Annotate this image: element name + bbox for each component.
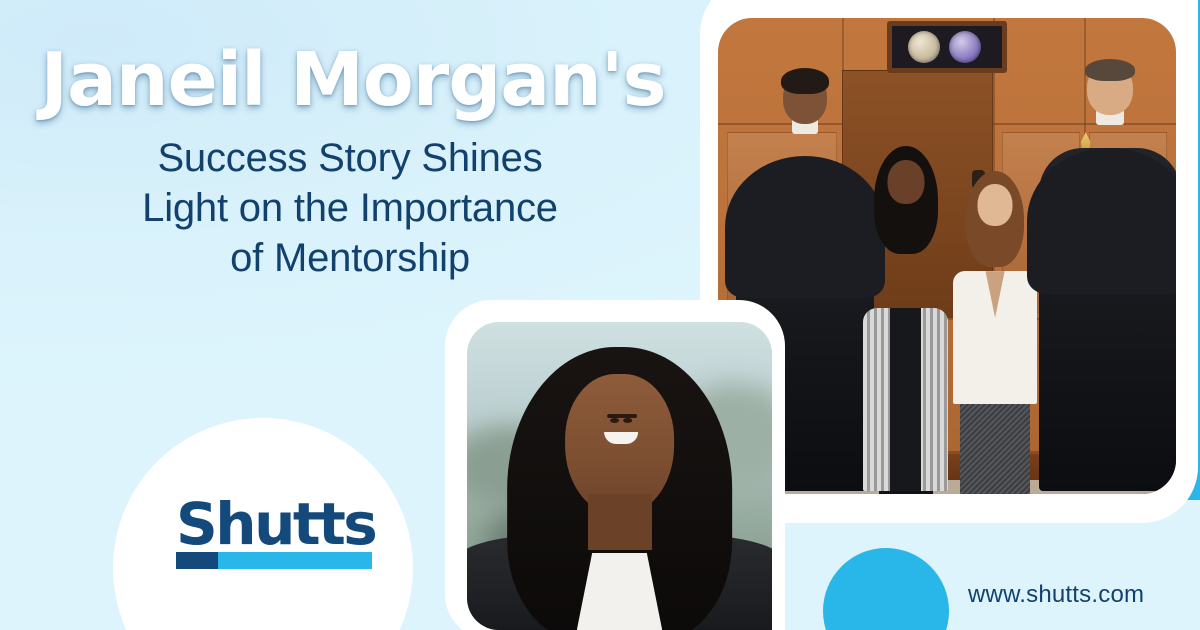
page-subtitle: Success Story Shines Light on the Import… bbox=[0, 133, 700, 284]
logo-underline-bar bbox=[176, 552, 372, 569]
subtitle-line-1: Success Story Shines bbox=[0, 133, 700, 183]
headshot-neck bbox=[587, 494, 651, 549]
cyan-circle-shape bbox=[823, 548, 949, 630]
headshot-photo bbox=[467, 322, 772, 630]
person-woman-plaid-blazer bbox=[858, 139, 954, 491]
headline-block: Janeil Morgan's Success Story Shines Lig… bbox=[0, 44, 700, 284]
shutts-logo[interactable]: Shutts bbox=[176, 500, 375, 569]
website-url[interactable]: www.shutts.com bbox=[968, 581, 1144, 609]
promo-poster: Janeil Morgan's Success Story Shines Lig… bbox=[0, 0, 1200, 630]
logo-bar-dark-segment bbox=[176, 552, 218, 569]
subtitle-line-3: of Mentorship bbox=[0, 233, 700, 283]
seal-icon bbox=[949, 31, 981, 63]
person-judge-right bbox=[1039, 63, 1176, 491]
seal-icon bbox=[908, 31, 940, 63]
logo-bar-light-segment bbox=[218, 552, 372, 569]
page-title: Janeil Morgan's bbox=[0, 44, 700, 117]
logo-wordmark: Shutts bbox=[176, 500, 375, 550]
subtitle-line-2: Light on the Importance bbox=[0, 183, 700, 233]
courtroom-seals-plaque bbox=[887, 21, 1006, 73]
courtroom-photo bbox=[718, 18, 1176, 494]
